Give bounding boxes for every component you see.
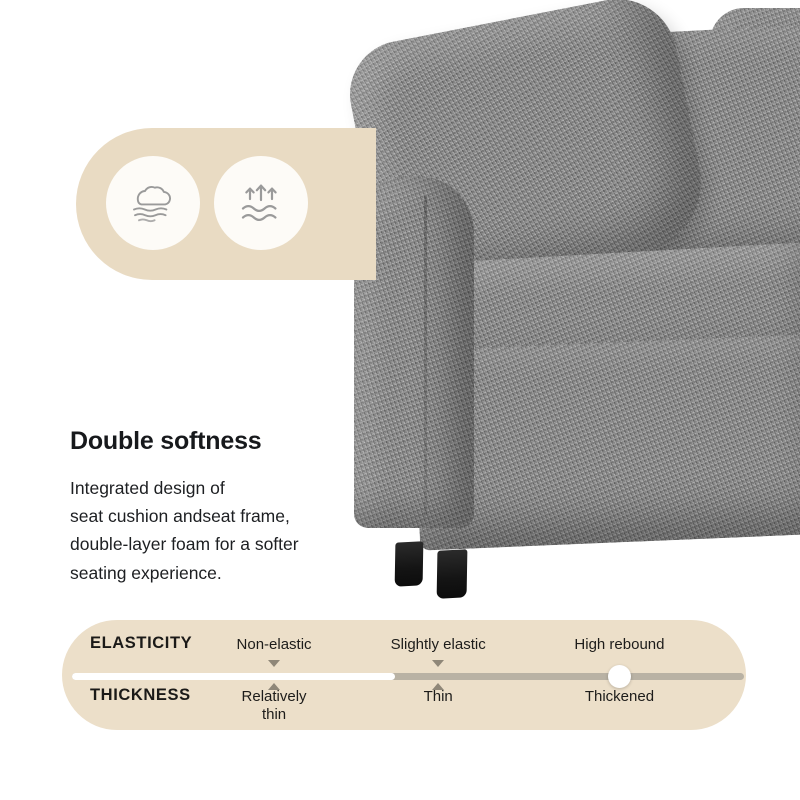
sofa-leg-back (437, 549, 468, 599)
feature-description: Integrated design of seat cushion andsea… (70, 474, 370, 587)
thickness-tick-relatively-thin: Relatively thin (242, 688, 307, 723)
rebound-breathable-icon (214, 156, 308, 250)
cloud-softness-icon (106, 156, 200, 250)
sofa-leg-front (395, 541, 424, 587)
product-infographic-page: Double softness Integrated design of sea… (0, 0, 800, 800)
slider-track-filled (72, 673, 395, 680)
spec-slider-track[interactable] (72, 673, 744, 680)
feature-text-block: Double softness Integrated design of sea… (70, 428, 370, 587)
spec-slider-panel: ELASTICITY THICKNESS Non-elastic Slightl… (62, 620, 746, 730)
elasticity-tick-high-rebound: High rebound (574, 636, 664, 654)
thickness-label: THICKNESS (90, 686, 191, 705)
elasticity-caret-non-elastic (268, 660, 280, 667)
thickness-tick-thin: Thin (424, 688, 453, 706)
elasticity-label: ELASTICITY (90, 634, 192, 653)
elasticity-tick-non-elastic: Non-elastic (237, 636, 312, 654)
elasticity-caret-slightly-elastic (432, 660, 444, 667)
page-title: Double softness (70, 428, 370, 456)
thickness-tick-thickened: Thickened (585, 688, 654, 706)
feature-icon-badge (76, 128, 376, 280)
elasticity-tick-slightly-elastic: Slightly elastic (391, 636, 486, 654)
slider-knob[interactable] (608, 665, 631, 688)
